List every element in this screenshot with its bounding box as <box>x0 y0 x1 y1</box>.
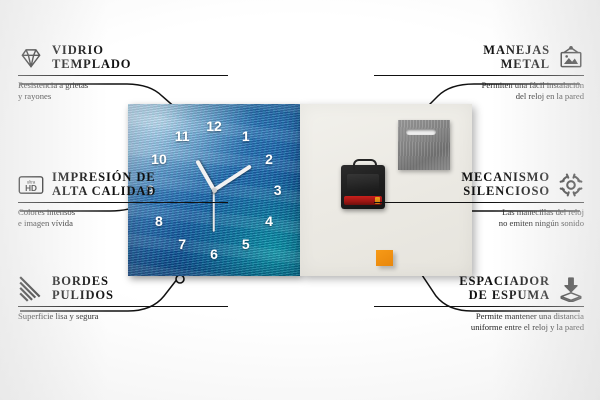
callout-rule <box>18 75 228 76</box>
callout-desc-line1: Colores intensos <box>18 207 75 217</box>
arrow-down-onto-layer-icon <box>558 276 584 302</box>
clock-numeral-3: 3 <box>274 183 282 197</box>
infographic-canvas: 12 1 2 3 4 5 6 7 8 9 10 11 <box>0 0 600 400</box>
callout-desc-line2: uniforme entre el reloj y la pared <box>471 322 584 332</box>
diamond-icon <box>18 45 44 71</box>
picture-frame-hanger-icon <box>558 45 584 71</box>
clock-numeral-11: 11 <box>175 129 190 143</box>
callout-espaciador-espuma: ESPACIADOR DE ESPUMA Permite mantener un… <box>374 275 584 333</box>
clock-numeral-10: 10 <box>151 152 167 166</box>
callout-title-line2: DE ESPUMA <box>469 288 550 302</box>
callout-desc-line1: Las manecillas del reloj <box>502 207 584 217</box>
callout-mecanismo-silencioso: MECANISMO SILENCIOSO Las manecillas del … <box>374 171 584 229</box>
callout-desc-line2: no emiten ningún sonido <box>499 218 584 228</box>
callout-desc-line2: y rayones <box>18 91 51 101</box>
callout-title-line2: METAL <box>501 57 550 71</box>
orange-foam-spacer <box>376 250 393 266</box>
callout-rule <box>374 75 584 76</box>
callout-title-line2: PULIDOS <box>52 288 114 302</box>
gear-icon <box>558 172 584 198</box>
clock-numeral-12: 12 <box>206 119 222 133</box>
svg-text:HD: HD <box>25 184 37 193</box>
callout-title-line1: IMPRESIÓN DE <box>52 170 156 184</box>
clock-numeral-5: 5 <box>242 237 250 251</box>
callout-rule <box>18 202 228 203</box>
callout-title-line1: VIDRIO <box>52 43 104 57</box>
callout-rule <box>374 202 584 203</box>
callout-desc-line1: Permite mantener una distancia <box>476 311 584 321</box>
callout-title-line1: BORDES <box>52 274 109 288</box>
clock-numeral-7: 7 <box>178 237 186 251</box>
callout-desc-line1: Superficie lisa y segura <box>18 311 98 321</box>
callout-title-line1: ESPACIADOR <box>459 274 550 288</box>
callout-rule <box>18 306 228 307</box>
movement-hook <box>353 159 377 170</box>
callout-title-line1: MANEJAS <box>483 43 550 57</box>
callout-vidrio-templado: VIDRIO TEMPLADO Resistencia a grietas y … <box>18 44 228 102</box>
callout-manejas-metal: MANEJAS METAL Permiten una fácil instala… <box>374 44 584 102</box>
callout-desc-line2: e imagen vívida <box>18 218 73 228</box>
callout-desc-line1: Permiten una fácil instalación <box>482 80 584 90</box>
callout-impresion-alta-calidad: ultra HD IMPRESIÓN DE ALTA CALIDAD Color… <box>18 171 228 229</box>
ultra-hd-icon: ultra HD <box>18 172 44 198</box>
callout-bordes-pulidos: BORDES PULIDOS Superficie lisa y segura <box>18 275 228 322</box>
callout-title-line1: MECANISMO <box>461 170 550 184</box>
clock-numeral-4: 4 <box>265 214 273 228</box>
callout-rule <box>374 306 584 307</box>
callout-desc-line1: Resistencia a grietas <box>18 80 88 90</box>
callout-title-line2: SILENCIOSO <box>463 184 550 198</box>
hanger-slot <box>406 129 436 135</box>
callout-desc-line2: del reloj en la pared <box>516 91 584 101</box>
metal-hanger-plate <box>398 120 450 170</box>
clock-numeral-6: 6 <box>210 247 218 261</box>
diagonal-lines-icon <box>18 276 44 302</box>
callout-title-line2: TEMPLADO <box>52 57 131 71</box>
callout-title-line2: ALTA CALIDAD <box>52 184 156 198</box>
clock-numeral-1: 1 <box>242 129 250 143</box>
clock-numeral-2: 2 <box>265 152 273 166</box>
